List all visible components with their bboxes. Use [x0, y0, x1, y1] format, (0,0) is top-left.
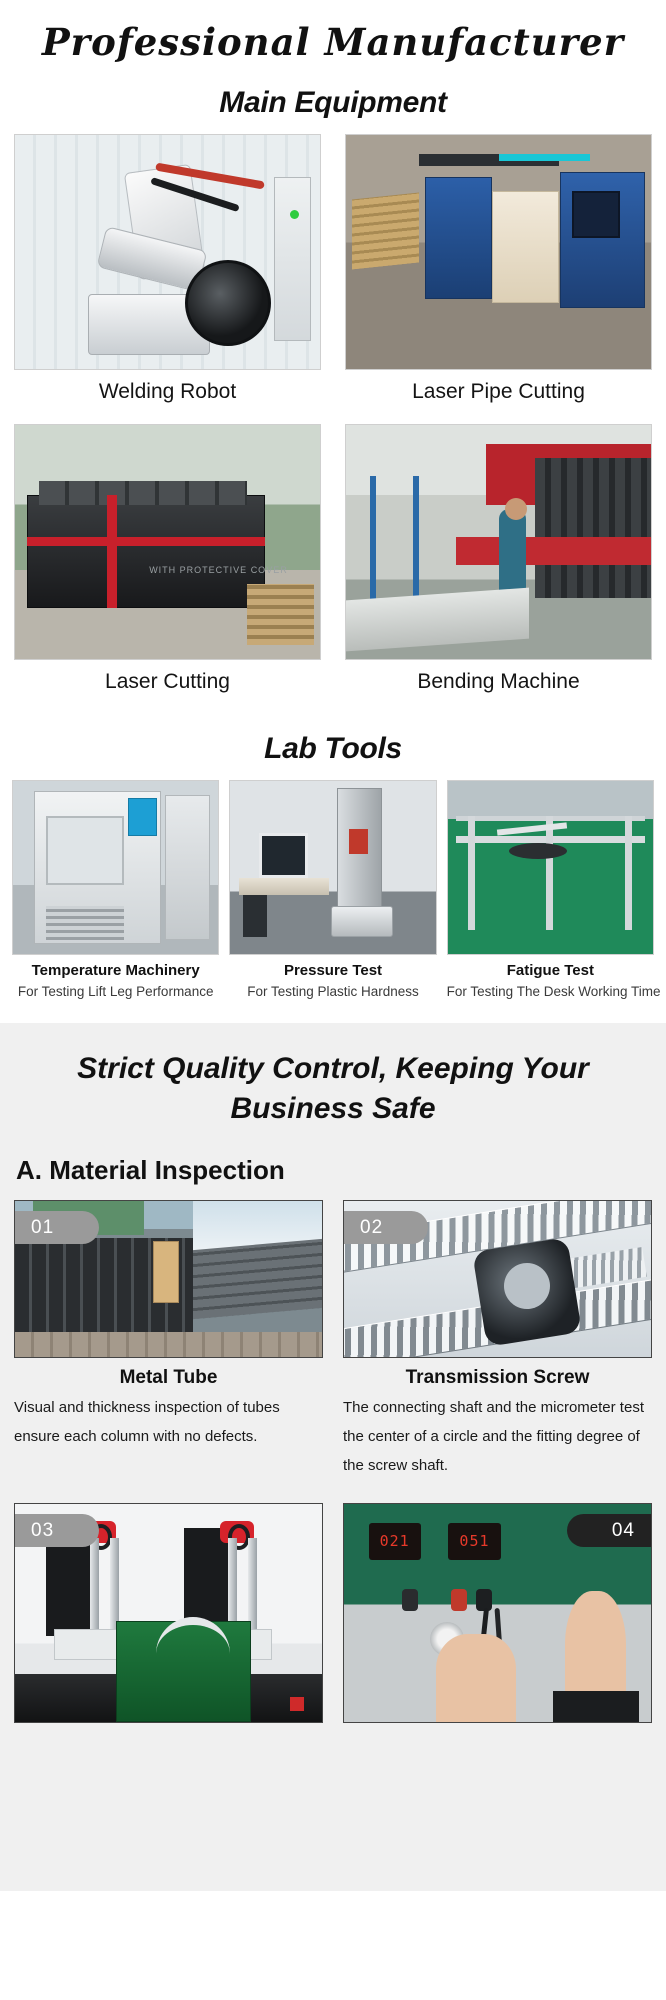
- lab-tool-caption: Pressure Test: [229, 955, 436, 979]
- transmission-screw-photo: 02: [343, 1200, 652, 1358]
- laser-pipe-cutting-photo: [345, 134, 652, 370]
- headline-line-1: Strict Quality Control, Keeping Your: [20, 1049, 646, 1089]
- equipment-caption: Laser Cutting: [14, 660, 321, 708]
- lab-tool-subcaption: For Testing The Desk Working Time: [447, 979, 654, 999]
- lab-tool-card-fatigue-test[interactable]: Fatigue Test For Testing The Desk Workin…: [447, 780, 654, 999]
- equipment-caption: Bending Machine: [345, 660, 652, 708]
- pressure-test-photo: [229, 780, 436, 955]
- badge-03: 03: [15, 1514, 99, 1547]
- badge-02: 02: [344, 1211, 428, 1244]
- inspection-card-transmission-screw[interactable]: 02 Transmission Screw The connecting sha…: [343, 1200, 652, 1481]
- inspection-card-lift-leg-test-rig[interactable]: 03: [14, 1503, 323, 1723]
- equipment-row-2: WITH PROTECTIVE COVER Laser Cutting Bend…: [14, 424, 652, 708]
- material-inspection-title: A. Material Inspection: [14, 1129, 652, 1200]
- inspection-card-electrical-meter-test[interactable]: 021 051 04: [343, 1503, 652, 1723]
- inspection-card-title: Metal Tube: [14, 1358, 323, 1393]
- inspection-card-title: Transmission Screw: [343, 1358, 652, 1393]
- equipment-caption: Laser Pipe Cutting: [345, 370, 652, 418]
- equipment-card-bending-machine[interactable]: Bending Machine: [345, 424, 652, 708]
- main-equipment-title: Main Equipment: [0, 68, 666, 134]
- welding-robot-photo: [14, 134, 321, 370]
- electrical-meter-test-photo: 021 051 04: [343, 1503, 652, 1723]
- quality-control-headline: Strict Quality Control, Keeping Your Bus…: [14, 1049, 652, 1129]
- lab-tools-row: Temperature Machinery For Testing Lift L…: [12, 780, 654, 999]
- inspection-card-body: The connecting shaft and the micrometer …: [343, 1393, 652, 1481]
- metal-tube-photo: 01: [14, 1200, 323, 1358]
- page-headline: Professional Manufacturer: [0, 0, 666, 68]
- bending-machine-photo: [345, 424, 652, 660]
- meter-display-right: 051: [448, 1523, 500, 1559]
- lab-tool-card-temperature-machinery[interactable]: Temperature Machinery For Testing Lift L…: [12, 780, 219, 999]
- lab-tools-title: Lab Tools: [0, 714, 666, 780]
- equipment-row-1: Welding Robot Laser Pipe Cutting: [14, 134, 652, 418]
- inspection-card-metal-tube[interactable]: 01 Metal Tube Visual and thickness inspe…: [14, 1200, 323, 1481]
- lab-tools-grid: Temperature Machinery For Testing Lift L…: [0, 780, 666, 999]
- temperature-machinery-photo: [12, 780, 219, 955]
- badge-01: 01: [15, 1211, 99, 1244]
- material-inspection-row-2: 03 021 051 04: [14, 1503, 652, 1723]
- main-equipment-grid: Welding Robot Laser Pipe Cutting WITH PR…: [0, 134, 666, 708]
- lab-tool-caption: Temperature Machinery: [12, 955, 219, 979]
- quality-control-section: Strict Quality Control, Keeping Your Bus…: [0, 1023, 666, 1891]
- lab-tool-card-pressure-test[interactable]: Pressure Test For Testing Plastic Hardne…: [229, 780, 436, 999]
- lab-tool-subcaption: For Testing Lift Leg Performance: [12, 979, 219, 999]
- inspection-card-body: Visual and thickness inspection of tubes…: [14, 1393, 323, 1452]
- equipment-caption: Welding Robot: [14, 370, 321, 418]
- badge-04: 04: [567, 1514, 651, 1547]
- equipment-card-laser-cutting[interactable]: WITH PROTECTIVE COVER Laser Cutting: [14, 424, 321, 708]
- lab-tool-subcaption: For Testing Plastic Hardness: [229, 979, 436, 999]
- equipment-card-welding-robot[interactable]: Welding Robot: [14, 134, 321, 418]
- equipment-card-laser-pipe-cutting[interactable]: Laser Pipe Cutting: [345, 134, 652, 418]
- laser-cutting-photo: WITH PROTECTIVE COVER: [14, 424, 321, 660]
- headline-line-2: Business Safe: [20, 1089, 646, 1129]
- lab-tool-caption: Fatigue Test: [447, 955, 654, 979]
- lift-leg-test-rig-photo: 03: [14, 1503, 323, 1723]
- material-inspection-row-1: 01 Metal Tube Visual and thickness inspe…: [14, 1200, 652, 1481]
- fatigue-test-photo: [447, 780, 654, 955]
- meter-display-left: 021: [369, 1523, 421, 1559]
